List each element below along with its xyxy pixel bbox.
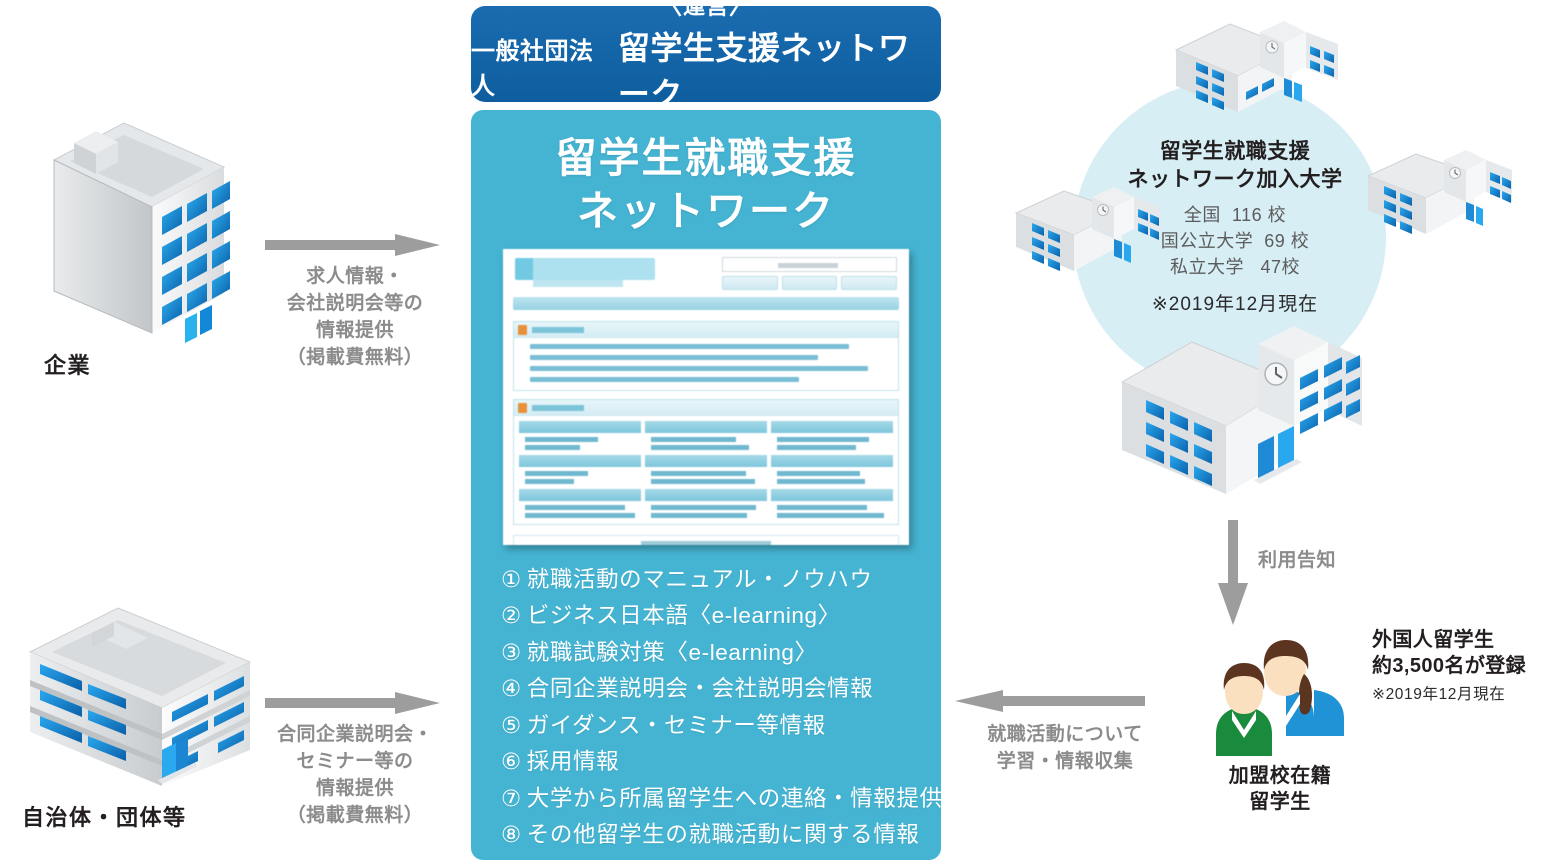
usage-notice-arrow xyxy=(1218,520,1248,625)
site-grid-cell xyxy=(771,421,893,450)
operator-org-name: 留学生支援ネットワーク xyxy=(618,23,941,115)
student-count-block: 外国人留学生 約3,500名が登録 ※2019年12月現在 xyxy=(1372,627,1560,704)
site-news-header xyxy=(514,322,898,338)
university-building-icon xyxy=(1116,322,1366,522)
student-title-line1: 外国人留学生 xyxy=(1372,627,1560,653)
university-note: ※2019年12月現在 xyxy=(1090,289,1380,316)
stat-value: 47校 xyxy=(1260,257,1300,277)
student-caption-line1: 加盟校在籍 xyxy=(1195,763,1365,789)
site-header xyxy=(503,249,909,297)
main-title-line1: 留学生就職支援 xyxy=(471,132,941,185)
service-number: ② xyxy=(501,603,522,628)
company-arrow xyxy=(265,234,440,256)
operator-org-type: 一般社団法人 xyxy=(471,31,604,101)
university-building-icon xyxy=(1172,20,1342,130)
service-item-6: ⑥採用情報 xyxy=(501,744,925,780)
government-building-icon xyxy=(22,600,257,805)
usage-notice-arrow-label: 利用告知 xyxy=(1258,548,1398,575)
service-item-7: ⑦大学から所属留学生への連絡・情報提供 xyxy=(501,781,925,817)
university-stat-row: 国公立大学 69 校 xyxy=(1090,228,1380,254)
site-search-input xyxy=(722,257,897,272)
site-grid-block xyxy=(514,450,898,484)
service-number: ⑧ xyxy=(501,822,522,847)
student-title-line2: 約3,500名が登録 xyxy=(1372,653,1560,679)
site-logo-icon xyxy=(515,258,655,280)
site-news-row xyxy=(530,355,818,360)
stat-label: 全国 xyxy=(1184,205,1221,225)
student-female-icon xyxy=(1264,640,1344,736)
service-label: その他留学生の就職活動に関する情報 xyxy=(527,822,920,847)
students-icon xyxy=(1186,618,1366,758)
service-label: 就職試験対策〈e-learning〉 xyxy=(527,640,818,665)
university-title-line2: ネットワーク加入大学 xyxy=(1090,166,1380,194)
site-grid-cell xyxy=(519,455,641,484)
feedback-arrow xyxy=(955,690,1145,712)
office-building-icon xyxy=(44,105,234,350)
service-item-2: ②ビジネス日本語〈e-learning〉 xyxy=(501,598,925,634)
stat-value: 116 校 xyxy=(1232,205,1286,225)
service-item-8: ⑧その他留学生の就職活動に関する情報 xyxy=(501,817,925,853)
university-title: 留学生就職支援 ネットワーク加入大学 xyxy=(1090,138,1380,194)
university-stat-row: 私立大学 47校 xyxy=(1090,254,1380,280)
student-caption: 加盟校在籍 留学生 xyxy=(1195,763,1365,816)
feedback-arrow-label: 就職活動について 学習・情報収集 xyxy=(965,722,1165,776)
service-number: ③ xyxy=(501,640,522,665)
site-logo-subtext xyxy=(533,280,623,287)
service-label: 合同企業説明会・会社説明会情報 xyxy=(527,676,874,701)
service-item-3: ③就職試験対策〈e-learning〉 xyxy=(501,635,925,671)
student-count-note: ※2019年12月現在 xyxy=(1372,682,1560,704)
company-arrow-label: 求人情報・ 会社説明会等の 情報提供 （掲載費無料） xyxy=(260,264,450,372)
student-count-title: 外国人留学生 約3,500名が登録 xyxy=(1372,627,1560,679)
site-grid-block xyxy=(514,416,898,450)
site-grid-cell xyxy=(771,455,893,484)
service-label: ビジネス日本語〈e-learning〉 xyxy=(527,603,841,628)
site-category-grid xyxy=(513,399,899,525)
diagram-canvas: 〈運営〉 一般社団法人 留学生支援ネットワーク 留学生就職支援 ネットワーク xyxy=(0,0,1560,868)
service-number: ① xyxy=(501,567,522,592)
service-item-5: ⑤ガイダンス・セミナー等情報 xyxy=(501,708,925,744)
service-label: 採用情報 xyxy=(527,749,619,774)
site-news-row xyxy=(530,377,799,382)
university-stat-row: 全国 116 校 xyxy=(1090,202,1380,228)
municipality-arrow-label: 合同企業説明会・ セミナー等の 情報提供 （掲載費無料） xyxy=(255,722,455,830)
site-footer-nav xyxy=(513,535,899,545)
stat-value: 69 校 xyxy=(1264,231,1309,251)
site-grid-cell xyxy=(645,421,767,450)
site-news-row xyxy=(530,366,868,371)
main-title-line2: ネットワーク xyxy=(471,185,941,238)
service-number: ⑦ xyxy=(501,786,522,811)
service-item-4: ④合同企業説明会・会社説明会情報 xyxy=(501,671,925,707)
site-navbar xyxy=(513,297,899,310)
university-stats: 全国 116 校 国公立大学 69 校 私立大学 47校 xyxy=(1090,202,1380,280)
site-btn-3 xyxy=(841,276,897,290)
stat-label: 私立大学 xyxy=(1170,257,1244,277)
student-male-icon xyxy=(1216,663,1272,756)
service-label: ガイダンス・セミナー等情報 xyxy=(527,713,826,738)
network-main-panel: 留学生就職支援 ネットワーク xyxy=(471,110,941,860)
website-screenshot-thumbnail xyxy=(503,249,909,545)
site-news-box xyxy=(513,321,899,391)
university-info-block: 留学生就職支援 ネットワーク加入大学 全国 116 校 国公立大学 69 校 私… xyxy=(1090,138,1380,316)
company-label: 企業 xyxy=(44,348,234,380)
municipality-label: 自治体・団体等 xyxy=(22,800,257,832)
university-title-line1: 留学生就職支援 xyxy=(1090,138,1380,166)
service-list: ①就職活動のマニュアル・ノウハウ ②ビジネス日本語〈e-learning〉 ③就… xyxy=(501,562,925,854)
university-building-icon xyxy=(1364,148,1514,253)
site-news-row xyxy=(530,344,849,349)
site-grid-cell xyxy=(645,455,767,484)
service-label: 就職活動のマニュアル・ノウハウ xyxy=(527,567,873,592)
municipality-arrow xyxy=(265,692,440,714)
site-grid-cell xyxy=(645,489,767,518)
operator-label: 〈運営〉 xyxy=(660,0,752,21)
site-btn-1 xyxy=(722,276,778,290)
site-button-row xyxy=(722,276,897,290)
main-panel-title: 留学生就職支援 ネットワーク xyxy=(471,132,941,239)
site-grid-cell xyxy=(519,421,641,450)
service-label: 大学から所属留学生への連絡・情報提供 xyxy=(527,786,943,811)
service-number: ⑤ xyxy=(501,713,522,738)
service-number: ⑥ xyxy=(501,749,522,774)
service-number: ④ xyxy=(501,676,522,701)
site-grid-block xyxy=(514,484,898,518)
service-item-1: ①就職活動のマニュアル・ノウハウ xyxy=(501,562,925,598)
stat-label: 国公立大学 xyxy=(1161,231,1254,251)
site-grid-cell xyxy=(519,489,641,518)
site-grid-header xyxy=(514,400,898,416)
site-grid-cell xyxy=(771,489,893,518)
student-caption-line2: 留学生 xyxy=(1195,789,1365,815)
site-btn-2 xyxy=(782,276,838,290)
operator-header-panel: 〈運営〉 一般社団法人 留学生支援ネットワーク xyxy=(471,6,941,102)
